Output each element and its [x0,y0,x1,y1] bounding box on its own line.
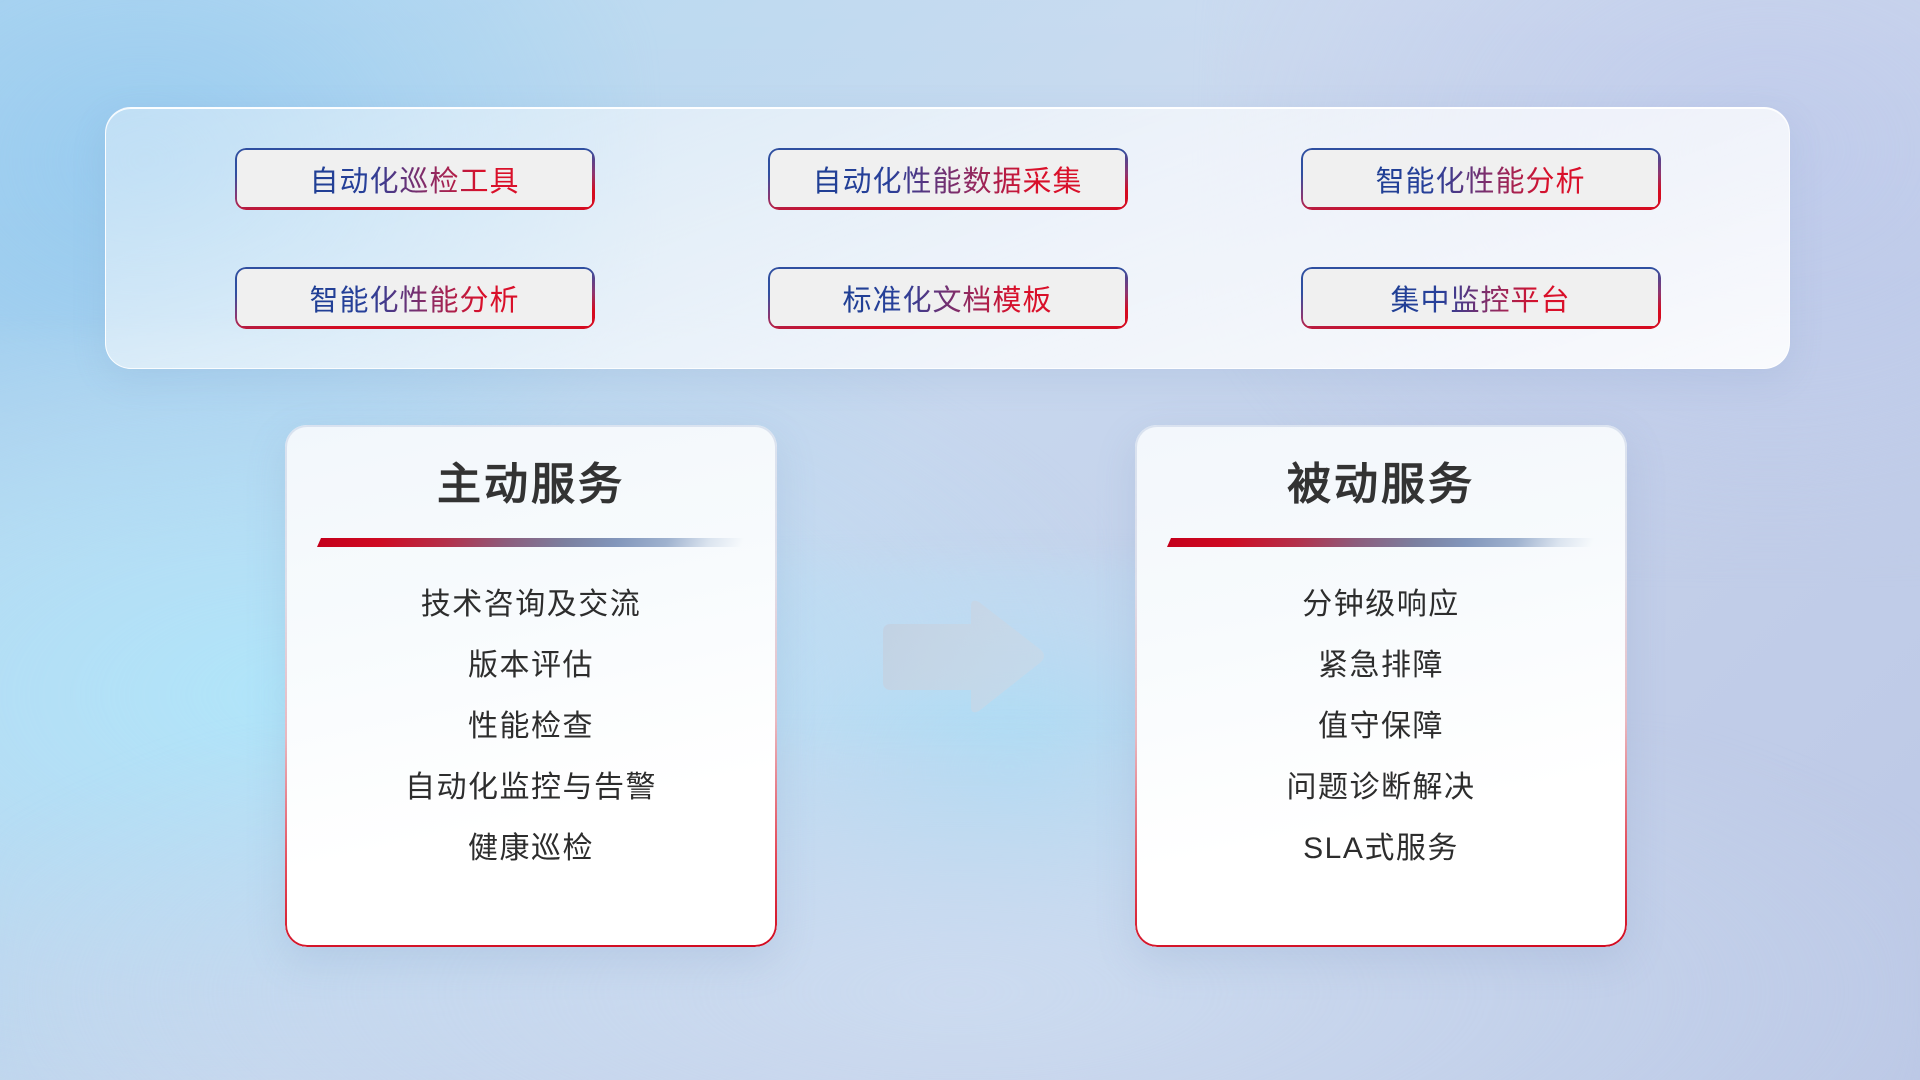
service-list-item: 健康巡检 [468,831,594,867]
service-card-inner: 被动服务 分钟级响应 紧急排障 值守保障 问题诊断解决 SLA式服务 [1135,425,1627,947]
capability-pill[interactable]: 智能化性能分析 [235,267,595,329]
capability-pill-label: 集中监控平台 [1390,277,1570,319]
service-card-title: 被动服务 [1287,457,1475,512]
service-card-divider [1167,538,1595,547]
service-card-list: 技术咨询及交流 版本评估 性能检查 自动化监控与告警 健康巡检 [285,587,777,867]
service-card-list: 分钟级响应 紧急排障 值守保障 问题诊断解决 SLA式服务 [1135,587,1627,867]
service-list-item: SLA式服务 [1303,831,1459,867]
capability-pill[interactable]: 标准化文档模板 [768,267,1128,329]
service-list-item: 性能检查 [468,709,594,745]
service-card-inner: 主动服务 技术咨询及交流 版本评估 性能检查 自动化监控与告警 健康巡检 [285,425,777,947]
service-list-item: 值守保障 [1318,709,1444,745]
capability-pill[interactable]: 集中监控平台 [1301,267,1661,329]
capability-panel: 自动化巡检工具 自动化性能数据采集 智能化性能分析 智能化性能分析 标准化文档模… [105,107,1790,369]
capability-pill-label: 智能化性能分析 [1375,158,1585,200]
service-list-item: 问题诊断解决 [1287,770,1476,806]
capability-pill-label: 自动化性能数据采集 [812,158,1082,200]
service-card-divider [317,538,745,547]
capability-pill-grid: 自动化巡检工具 自动化性能数据采集 智能化性能分析 智能化性能分析 标准化文档模… [106,108,1789,368]
service-list-item: 自动化监控与告警 [405,770,657,806]
service-list-item: 版本评估 [468,648,594,684]
infographic-stage: 自动化巡检工具 自动化性能数据采集 智能化性能分析 智能化性能分析 标准化文档模… [0,0,1920,1080]
arrow-right-icon [875,598,1047,716]
capability-pill[interactable]: 自动化巡检工具 [235,148,595,210]
service-card-active[interactable]: 主动服务 技术咨询及交流 版本评估 性能检查 自动化监控与告警 健康巡检 [285,425,777,947]
service-list-item: 技术咨询及交流 [421,587,642,623]
capability-pill-label: 标准化文档模板 [842,277,1052,319]
capability-pill-label: 智能化性能分析 [309,277,519,319]
capability-pill[interactable]: 智能化性能分析 [1301,148,1661,210]
service-card-title: 主动服务 [437,457,625,512]
capability-pill[interactable]: 自动化性能数据采集 [768,148,1128,210]
service-list-item: 紧急排障 [1318,648,1444,684]
service-list-item: 分钟级响应 [1302,587,1460,623]
service-card-passive[interactable]: 被动服务 分钟级响应 紧急排障 值守保障 问题诊断解决 SLA式服务 [1135,425,1627,947]
capability-pill-label: 自动化巡检工具 [309,158,519,200]
